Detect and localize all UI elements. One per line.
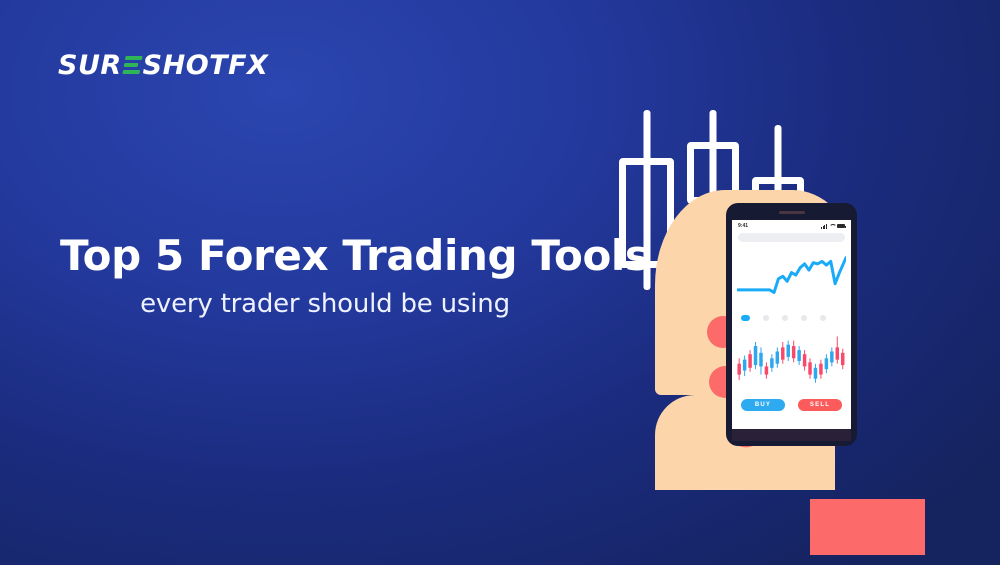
candle-body [819,364,822,375]
candle-body [792,346,795,358]
signal-bars-icon [821,224,827,229]
brand-name-part1: SUR [58,52,122,79]
wifi-icon [829,224,835,229]
buy-button[interactable]: BUY [741,399,785,411]
status-bar: 9:41 [732,220,851,232]
phone-screen: 9:41 BUY SELL [732,220,851,429]
brand-logo[interactable]: SUR SHOTFX [58,48,268,82]
candle-body [759,353,762,367]
sell-button[interactable]: SELL [798,399,842,411]
candle-body [808,362,811,374]
candle-body [841,353,844,365]
candle-body [748,354,751,368]
marketing-banner: SUR SHOTFX Top 5 Forex Trading Tools eve… [0,0,1000,565]
search-input[interactable] [738,233,845,242]
candle-body [765,366,768,374]
candle-body [743,360,746,371]
candle-body [825,358,828,369]
smartphone-mockup: 9:41 BUY SELL [726,203,857,446]
pagination-dot[interactable] [801,315,807,321]
candle-body [814,368,817,379]
candlestick-chart-svg [737,327,846,395]
phone-chin [732,429,851,441]
candle-body [770,358,773,368]
pagination-dot[interactable] [820,315,826,321]
candle-body [830,351,833,362]
carousel-pagination[interactable] [732,311,851,321]
logo-e-glyph-icon [122,54,143,76]
sleeve-cuff [810,499,925,555]
candle-body [786,345,789,357]
phone-speaker [779,211,805,214]
candle-body [797,350,800,361]
candle-body [781,347,784,359]
candle-body [836,347,839,359]
trade-actions: BUY SELL [732,395,851,411]
line-chart[interactable] [737,249,846,311]
status-bar-icons [821,224,845,229]
candle-body [803,354,806,366]
candle-body [737,364,740,375]
battery-icon [837,224,845,229]
page-title: Top 5 Forex Trading Tools [60,232,680,279]
candle-body [776,351,779,363]
candle-body [754,346,757,365]
pagination-dot[interactable] [763,315,769,321]
line-chart-svg [737,249,846,311]
headline-block: Top 5 Forex Trading Tools every trader s… [60,232,680,319]
candlestick-chart[interactable] [737,327,846,395]
brand-name-part2: SHOTFX [143,52,269,79]
line-chart-series [737,258,846,293]
page-subtitle: every trader should be using [60,289,590,319]
status-bar-clock: 9:41 [738,223,748,229]
pagination-dot[interactable] [782,315,788,321]
pagination-dot[interactable] [741,315,750,321]
